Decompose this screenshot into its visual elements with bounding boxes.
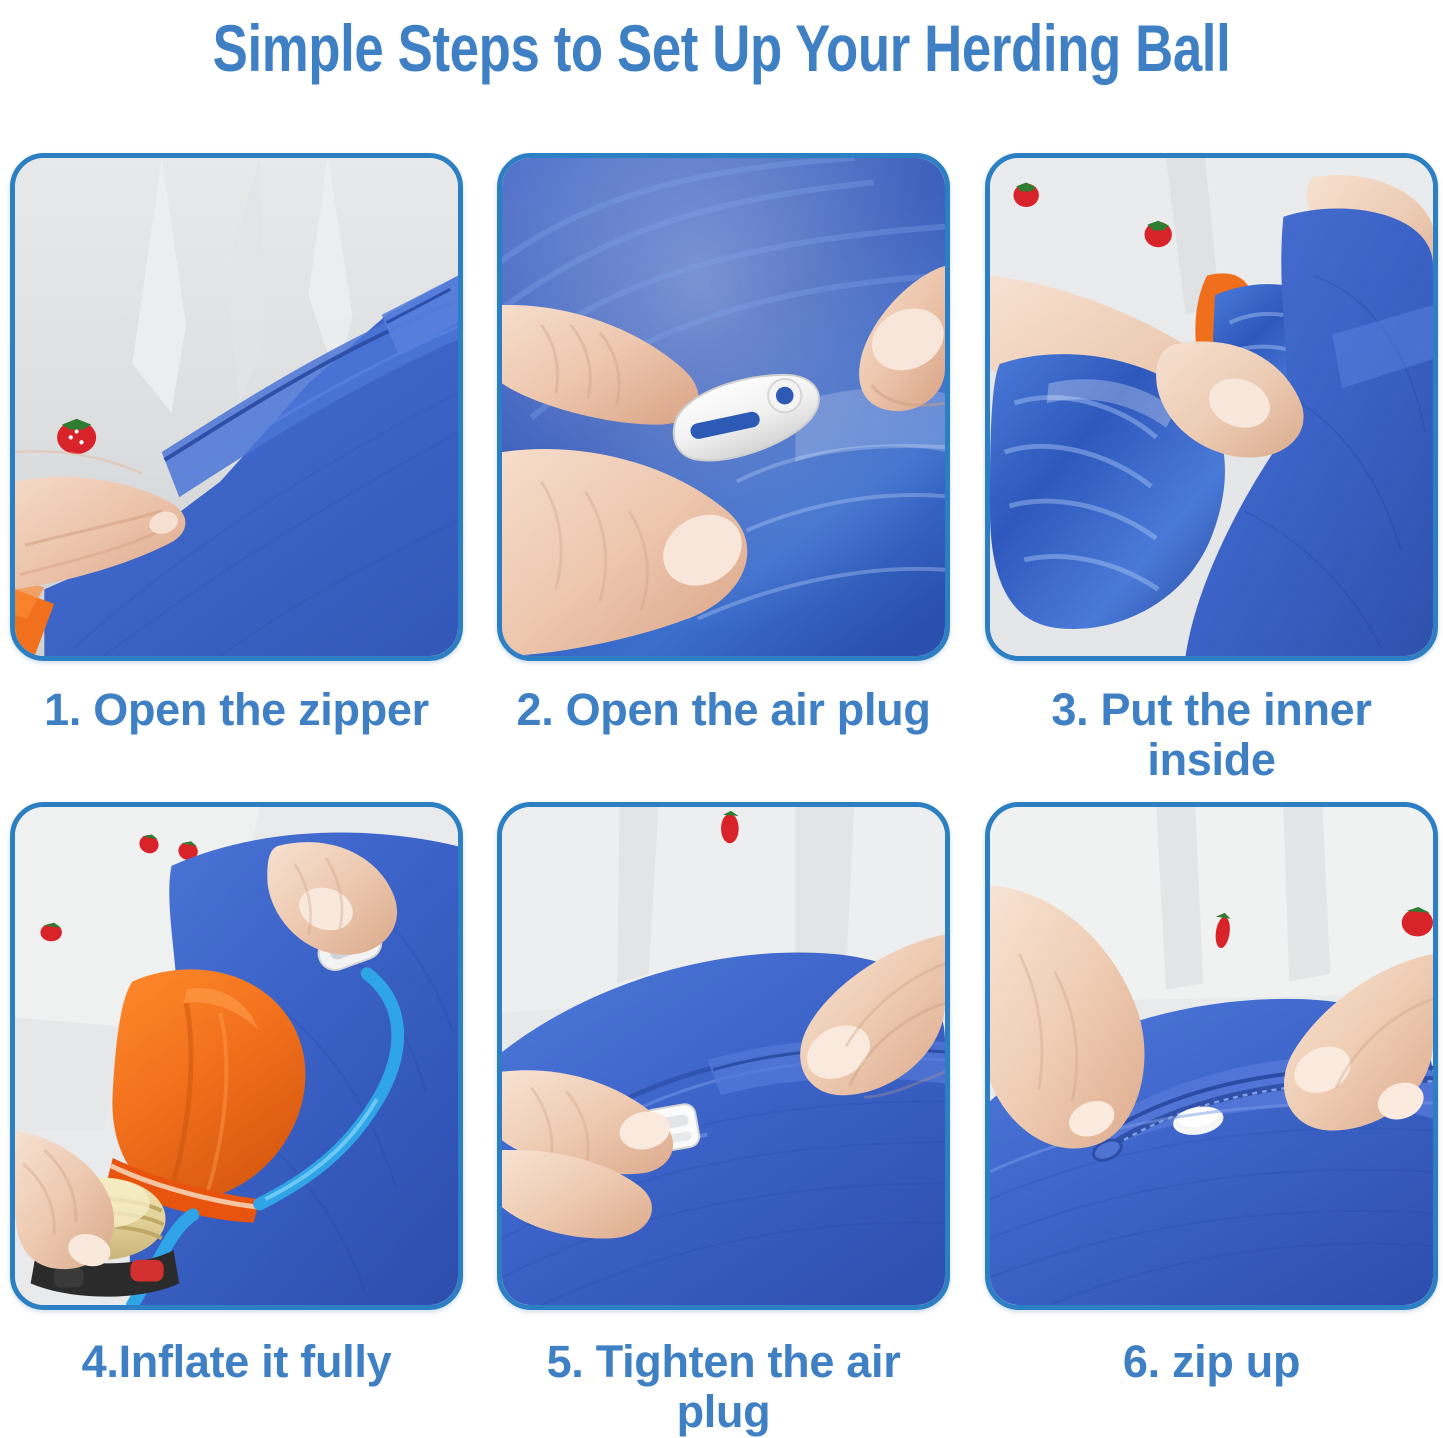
step-caption-5: 5. Tighten the air plug bbox=[497, 1337, 950, 1438]
step-caption-6: 6. zip up bbox=[985, 1337, 1438, 1387]
step-caption-5-line-1: 5. Tighten the air plug bbox=[547, 1336, 901, 1437]
step-caption-3-line-1: 3. Put the inner bbox=[985, 685, 1438, 735]
step-photo-tighten-air-plug bbox=[497, 802, 950, 1310]
step-caption-2: 2. Open the air plug bbox=[497, 685, 950, 735]
step-photo-put-inner-inside bbox=[985, 153, 1438, 661]
step-caption-1-line-1: 1. Open the zipper bbox=[44, 684, 429, 735]
step-photo-zip-up bbox=[985, 802, 1438, 1310]
step-caption-1: 1. Open the zipper bbox=[10, 685, 463, 735]
step-card-2 bbox=[497, 153, 950, 661]
step-photo-inflate-fully bbox=[10, 802, 463, 1310]
steps-grid: 1. Open the zipper bbox=[0, 0, 1443, 1408]
step-photo-open-zipper bbox=[10, 153, 463, 661]
step-caption-3: 3. Put the inner inside bbox=[985, 685, 1438, 786]
step-caption-4-line-1: 4.Inflate it fully bbox=[82, 1336, 392, 1387]
step-card-3 bbox=[985, 153, 1438, 661]
step-caption-2-line-1: 2. Open the air plug bbox=[516, 684, 930, 735]
step-caption-4: 4.Inflate it fully bbox=[10, 1337, 463, 1387]
step-card-6 bbox=[985, 802, 1438, 1310]
step-caption-3-line-2: inside bbox=[985, 735, 1438, 785]
step-photo-open-air-plug bbox=[497, 153, 950, 661]
step-card-4 bbox=[10, 802, 463, 1310]
step-card-1 bbox=[10, 153, 463, 661]
step-caption-6-line-1: 6. zip up bbox=[1123, 1336, 1300, 1387]
step-card-5 bbox=[497, 802, 950, 1310]
